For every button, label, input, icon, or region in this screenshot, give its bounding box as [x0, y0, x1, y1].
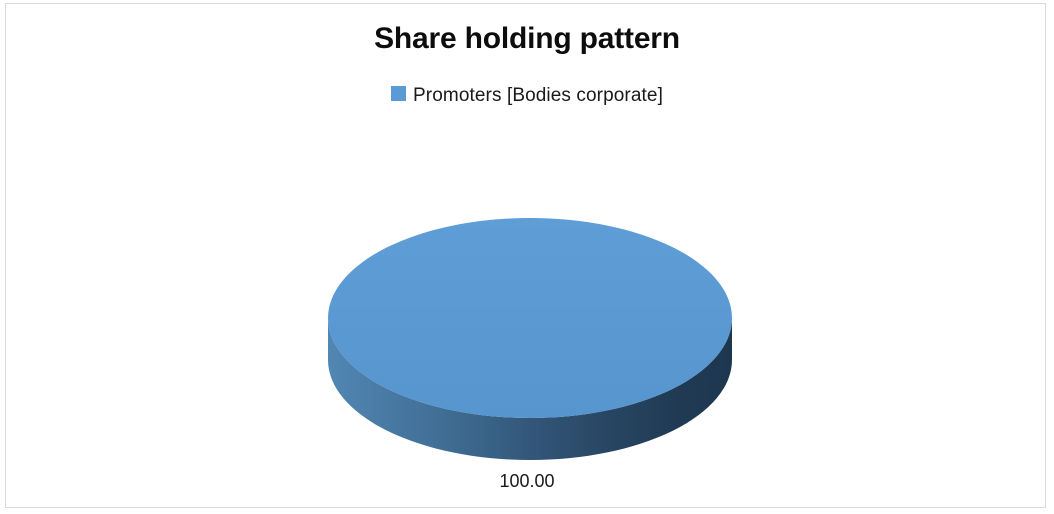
pie-slice-promoters[interactable] [328, 218, 732, 418]
pie-svg [0, 0, 1054, 514]
pie-chart-graphic[interactable] [0, 0, 1054, 514]
pie-data-label: 100.00 [0, 470, 1054, 492]
chart-canvas: Share holding pattern Promoters [Bodies … [0, 0, 1054, 514]
